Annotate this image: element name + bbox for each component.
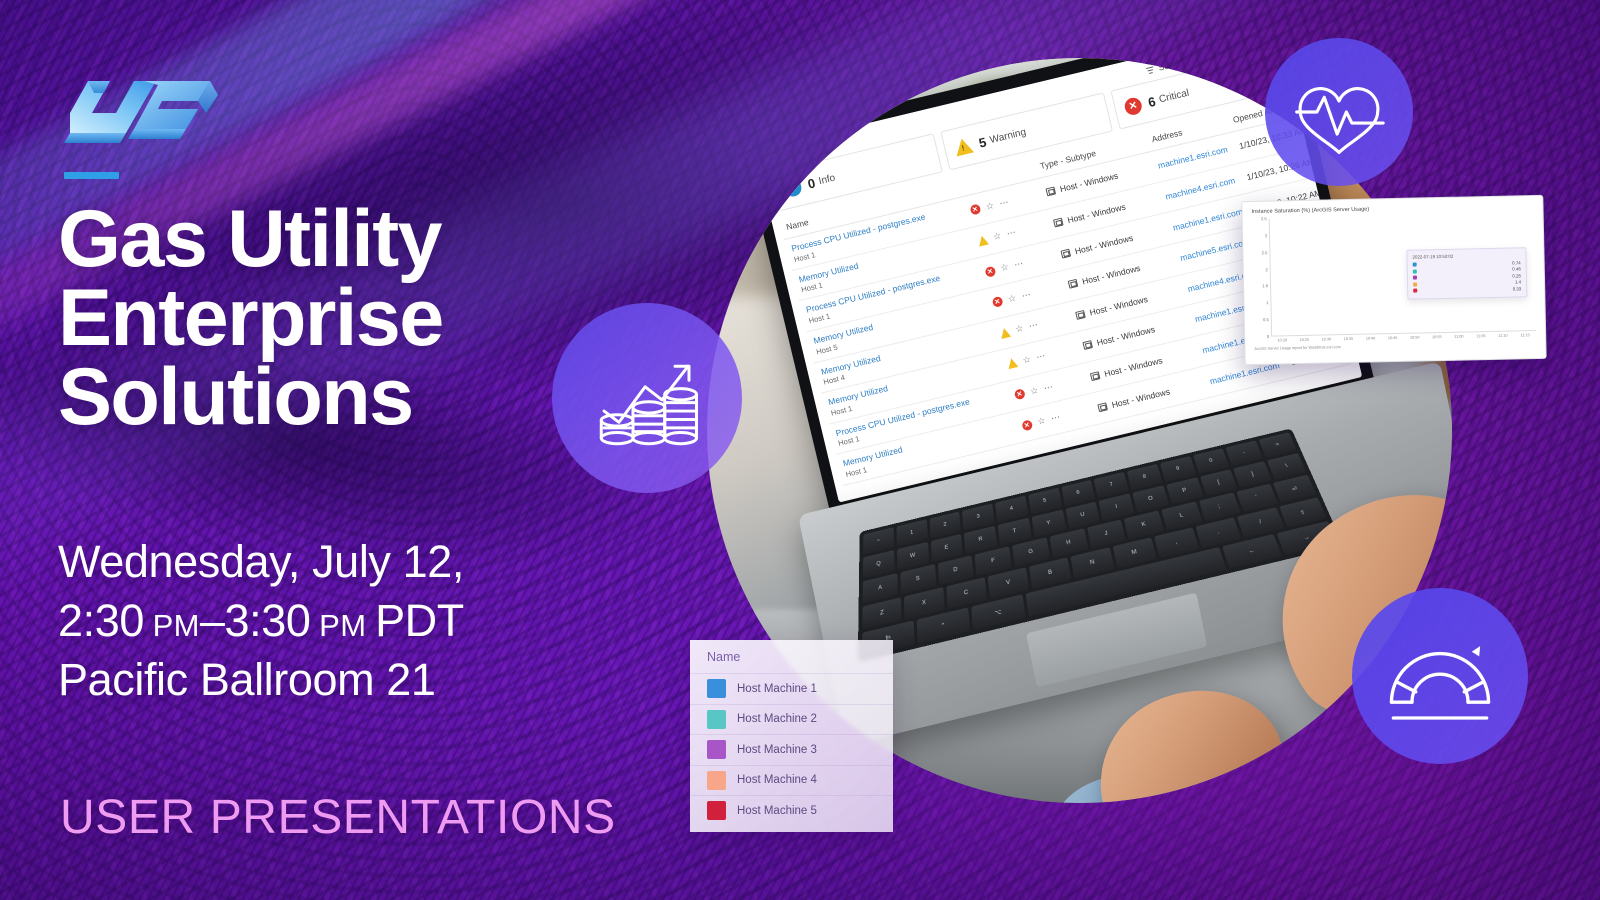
y-tick: 3.5 (1261, 216, 1267, 221)
page-title: Gas Utility Enterprise Solutions (58, 200, 618, 437)
legend-header: Name (690, 640, 893, 673)
windows-host-icon (1083, 341, 1094, 351)
gauge-bubble (1352, 588, 1528, 764)
more-options-icon[interactable]: ⋯ (1028, 319, 1040, 332)
tooltip-swatch (1413, 276, 1417, 280)
host-machine-legend: Name Host Machine 1Host Machine 2Host Ma… (690, 640, 893, 832)
alert-type: Host - Windows (1096, 324, 1156, 348)
legend-swatch (707, 801, 726, 820)
y-tick: 1.5 (1262, 284, 1268, 289)
gauge-icon (1384, 627, 1496, 725)
x-tick: 10:45 (1382, 336, 1404, 340)
legend-rows: Host Machine 1Host Machine 2Host Machine… (690, 673, 893, 826)
y-tick: 2 (1265, 267, 1267, 272)
critical-label: Critical (1158, 87, 1190, 105)
favorite-star-icon[interactable]: ☆ (992, 231, 1002, 244)
x-tick: 10:35 (1337, 337, 1359, 341)
tooltip-swatch (1413, 289, 1417, 293)
legend-row[interactable]: Host Machine 2 (690, 704, 893, 735)
alert-type: Host - Windows (1103, 355, 1163, 379)
sort-label: Sort (1157, 59, 1174, 72)
event-date: Wednesday, July 12, (58, 533, 678, 592)
event-time: 2:30 PM–3:30 PM PDT (58, 592, 678, 651)
tooltip-swatch (1413, 282, 1417, 286)
windows-host-icon (1075, 310, 1086, 320)
critical-count: 6 (1146, 93, 1157, 109)
windows-host-icon (1053, 218, 1064, 228)
more-options-icon[interactable]: ⋯ (1035, 350, 1047, 363)
tooltip-swatch (1413, 263, 1417, 267)
y-tick: 3 (1265, 233, 1267, 238)
legend-label: Host Machine 3 (737, 744, 817, 756)
alert-type: Host - Windows (1111, 386, 1171, 410)
tooltip-value: 0.25 (1512, 273, 1521, 278)
sort-button[interactable]: Sort (1145, 59, 1175, 75)
filter-label: Filter (1202, 58, 1223, 62)
x-tick: 10:20 (1271, 338, 1293, 342)
favorite-star-icon[interactable]: ☆ (1036, 415, 1046, 428)
x-tick: 10:30 (1315, 337, 1337, 341)
info-icon: i (783, 177, 803, 197)
legend-row[interactable]: Host Machine 1 (690, 673, 893, 704)
growth-coins-bubble (552, 303, 742, 493)
filter-icon (1189, 58, 1200, 65)
severity-warning-icon (1006, 358, 1018, 370)
x-tick: 10:25 (1293, 338, 1315, 342)
legend-swatch (707, 771, 726, 790)
severity-critical-icon: ✕ (1014, 388, 1026, 400)
severity-warning-icon (977, 235, 989, 247)
x-tick: 11:05 (1470, 334, 1492, 338)
tooltip-rows: 0.740.460.251.40.33 (1413, 260, 1522, 294)
x-tick: 11:10 (1492, 333, 1514, 337)
severity-critical-icon: ✕ (991, 296, 1003, 308)
x-tick: 11:15 (1514, 333, 1536, 337)
windows-host-icon (1097, 402, 1108, 412)
favorite-star-icon[interactable]: ☆ (1022, 354, 1032, 367)
alert-type: Host - Windows (1059, 171, 1119, 195)
time-start-meridiem: PM (153, 608, 200, 643)
tooltip-value: 0.46 (1512, 266, 1521, 271)
headline-line-3: Solutions (58, 358, 618, 437)
poster-canvas: Sort Filter (0, 0, 1600, 900)
legend-row[interactable]: Host Machine 5 (690, 795, 893, 826)
warning-label: Warning (989, 126, 1027, 145)
favorite-star-icon[interactable]: ☆ (985, 200, 995, 213)
legend-label: Host Machine 4 (737, 774, 817, 786)
legend-row[interactable]: Host Machine 4 (690, 765, 893, 796)
severity-critical-icon: ✕ (984, 265, 996, 277)
x-tick: 11:00 (1448, 334, 1470, 338)
more-options-icon[interactable]: ⋯ (1006, 227, 1018, 240)
warning-icon (953, 137, 974, 157)
legend-label: Host Machine 2 (737, 713, 817, 725)
x-tick: 10:55 (1426, 335, 1448, 339)
alert-type: Host - Windows (1081, 263, 1141, 287)
event-details: Wednesday, July 12, 2:30 PM–3:30 PM PDT … (58, 533, 678, 710)
headline-line-1: Gas Utility (58, 200, 618, 279)
heart-pulse-icon (1293, 69, 1385, 155)
tooltip-row: 0.33 (1413, 286, 1521, 293)
favorite-star-icon[interactable]: ☆ (1007, 292, 1017, 305)
instance-saturation-chart-panel: Instance Saturation (%) (ArcGIS Server U… (1241, 195, 1546, 365)
legend-swatch (707, 740, 726, 759)
more-options-icon[interactable]: ⋯ (1013, 258, 1025, 271)
y-tick: 0 (1267, 334, 1269, 339)
favorite-star-icon[interactable]: ☆ (999, 262, 1009, 275)
tooltip-value: 0.33 (1513, 286, 1522, 291)
info-label: Info (818, 172, 837, 187)
critical-icon: ✕ (1123, 96, 1143, 116)
windows-host-icon (1060, 248, 1071, 258)
more-options-icon[interactable]: ⋯ (998, 196, 1010, 209)
heart-pulse-bubble (1265, 38, 1413, 186)
time-timezone: PDT (375, 595, 464, 646)
session-category-label: USER PRESENTATIONS (60, 790, 616, 845)
y-tick: 2.5 (1262, 250, 1268, 255)
alert-type: Host - Windows (1066, 201, 1126, 225)
warning-count: 5 (977, 134, 988, 150)
windows-host-icon (1090, 371, 1101, 381)
legend-label: Host Machine 5 (737, 805, 817, 817)
tooltip-swatch (1413, 269, 1417, 273)
uc-logo-mark (58, 55, 236, 145)
time-end-meridiem: PM (319, 608, 366, 643)
severity-critical-icon: ✕ (1021, 419, 1033, 431)
favorite-star-icon[interactable]: ☆ (1014, 323, 1024, 336)
growth-coins-icon (591, 342, 703, 454)
favorite-star-icon[interactable]: ☆ (1029, 385, 1039, 398)
severity-critical-icon: ✕ (969, 204, 981, 216)
chart-footnote: ArcGIS Server Usage report for World/Ins… (1254, 341, 1536, 351)
more-options-icon[interactable]: ⋯ (1043, 381, 1055, 394)
more-options-icon[interactable]: ⋯ (1050, 412, 1062, 425)
alert-type: Host - Windows (1089, 294, 1149, 318)
severity-warning-icon (999, 327, 1011, 339)
sort-icon (1145, 64, 1156, 75)
x-tick: 10:40 (1359, 336, 1381, 340)
tooltip-value: 1.4 (1515, 280, 1521, 285)
y-tick: 0.5 (1263, 317, 1269, 322)
event-location: Pacific Ballroom 21 (58, 651, 678, 710)
y-tick: 1 (1266, 300, 1268, 305)
windows-host-icon (1046, 187, 1057, 197)
tooltip-value: 0.74 (1512, 260, 1521, 265)
x-tick: 10:50 (1404, 335, 1426, 339)
headline-line-2: Enterprise (58, 279, 618, 358)
time-dash: –3:30 (200, 595, 311, 646)
legend-row[interactable]: Host Machine 3 (690, 734, 893, 765)
tooltip-timestamp: 2022-07-19 10:53:02 (1412, 252, 1520, 259)
uc-logo (58, 55, 236, 179)
info-count: 0 (806, 175, 817, 191)
logo-underline (64, 172, 119, 179)
chart-tooltip: 2022-07-19 10:53:02 0.740.460.251.40.33 (1406, 247, 1527, 300)
legend-swatch (707, 679, 726, 698)
time-start: 2:30 (58, 595, 144, 646)
legend-label: Host Machine 1 (737, 683, 817, 695)
windows-host-icon (1068, 279, 1079, 289)
alert-type: Host - Windows (1074, 232, 1134, 256)
chart-plot-area: 00.511.522.533.5 2022-07-19 10:53:02 0.7… (1252, 213, 1536, 337)
legend-swatch (707, 710, 726, 729)
more-options-icon[interactable]: ⋯ (1021, 289, 1033, 302)
